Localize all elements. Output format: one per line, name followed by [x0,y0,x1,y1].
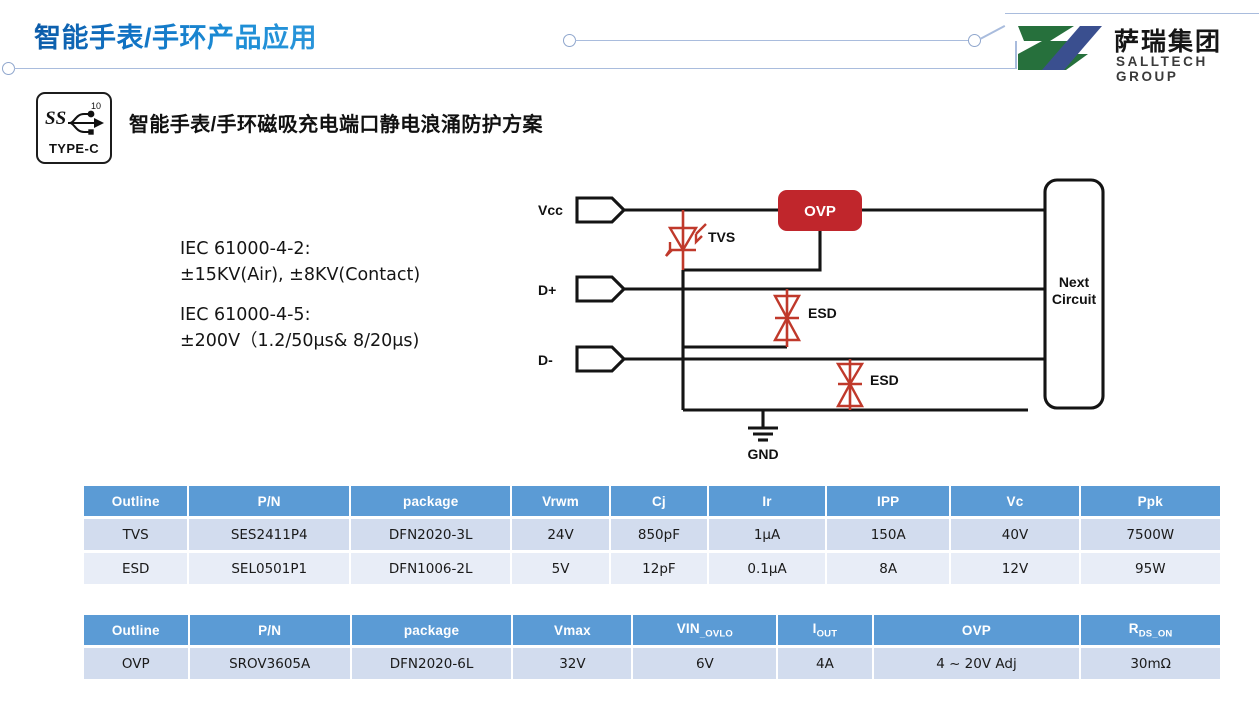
table2-header-6: OVP [874,615,1080,645]
port-label-vcc: Vcc [538,202,563,218]
table1-cell-1-1: SEL0501P1 [189,553,349,584]
ovp-spec-table: OutlineP/NpackageVmaxVIN_OVLOIOUTOVPRDS_… [82,612,1222,682]
table1-cell-1-4: 12pF [611,553,707,584]
deco-line-lower [14,68,1017,70]
table1-header-2: package [351,486,510,516]
table1-cell-0-1: SES2411P4 [189,519,349,550]
usb-trident-icon [66,110,106,136]
wire-ovp-feedback [683,231,820,270]
table2-header-7: RDS_ON [1081,615,1220,645]
table1-cell-1-3: 5V [512,553,608,584]
ovp-block: OVP [778,190,862,231]
table1-header-1: P/N [189,486,349,516]
table2-header-5: IOUT [778,615,871,645]
table1-cell-1-5: 0.1μA [709,553,825,584]
spec-line-1: IEC 61000-4-2: [180,236,420,262]
esd-label-1: ESD [808,305,837,321]
table-row: TVSSES2411P4DFN2020-3L24V850pF1μA150A40V… [84,519,1220,550]
page-header: 智能手表/手环产品应用 萨瑞集团 SALLTECH GROUP [0,0,1259,90]
table-row: OVPSROV3605ADFN2020-6L32V6V4A4 ~ 20V Adj… [84,648,1220,679]
slide-page: 智能手表/手环产品应用 萨瑞集团 SALLTECH GROUP SS 10 [0,0,1259,705]
esd-label-2: ESD [870,372,899,388]
deco-line-diagonal [980,25,1005,40]
next-circuit-label-line2: Circuit [1052,291,1097,307]
table1-header-8: Ppk [1081,486,1220,516]
table2-cell-0-5: 4A [778,648,871,679]
table2-cell-0-7: 30mΩ [1081,648,1220,679]
table1-header-3: Vrwm [512,486,608,516]
table1-header-0: Outline [84,486,187,516]
gnd-label: GND [747,446,778,462]
table-row: ESDSEL0501P1DFN1006-2L5V12pF0.1μA8A12V95… [84,553,1220,584]
table1-cell-0-4: 850pF [611,519,707,550]
connector-dminus [577,347,624,371]
table2-cell-0-4: 6V [633,648,776,679]
table1-cell-0-0: TVS [84,519,187,550]
table2-cell-0-2: DFN2020-6L [352,648,512,679]
type-c-label: TYPE-C [38,141,110,156]
superspeed-label: SS [45,108,66,130]
table1-cell-0-8: 7500W [1081,519,1220,550]
salltech-logo-mark [1014,24,1106,72]
table1-header-7: Vc [951,486,1078,516]
table2-cell-0-6: 4 ~ 20V Adj [874,648,1080,679]
table1-cell-1-6: 8A [827,553,950,584]
table1-header-5: Ir [709,486,825,516]
table1-cell-1-7: 12V [951,553,1078,584]
table1-cell-0-2: DFN2020-3L [351,519,510,550]
ground-symbol [748,410,778,440]
table-header-row: OutlineP/NpackageVrwmCjIrIPPVcPpk [84,486,1220,516]
ovp-block-label: OVP [804,203,836,220]
table2-header-4: VIN_OVLO [633,615,776,645]
table2-header-0: Outline [84,615,188,645]
table2-header-1: P/N [190,615,350,645]
tvs-esd-spec-table: OutlineP/NpackageVrwmCjIrIPPVcPpk TVSSES… [82,483,1222,587]
table1-cell-0-5: 1μA [709,519,825,550]
next-circuit-block: Next Circuit [1045,180,1103,408]
connector-vcc [577,198,624,222]
tvs-component [666,210,706,270]
spec-line-4: ±200V（1.2/50μs& 8/20μs) [180,328,420,354]
logo-text-en: SALLTECH GROUP [1116,54,1246,84]
logo-text-cn: 萨瑞集团 [1114,22,1222,58]
table-header-row: OutlineP/NpackageVmaxVIN_OVLOIOUTOVPRDS_… [84,615,1220,645]
company-logo: 萨瑞集团 SALLTECH GROUP [1014,22,1246,76]
table1-cell-0-6: 150A [827,519,950,550]
table1-cell-1-0: ESD [84,553,187,584]
connector-dplus [577,277,624,301]
table2-header-3: Vmax [513,615,631,645]
page-title: 智能手表/手环产品应用 [34,16,317,55]
table1-header-6: IPP [827,486,950,516]
table2-cell-0-0: OVP [84,648,188,679]
spec-text-block: IEC 61000-4-2: ±15KV(Air), ±8KV(Contact)… [180,236,420,354]
table2-cell-0-3: 32V [513,648,631,679]
table1-cell-0-7: 40V [951,519,1078,550]
esd-component-2 [838,359,862,410]
type-c-badge: SS 10 TYPE-C [36,92,112,164]
circuit-diagram: .wire { stroke:#141414; stroke-width:3.1… [520,170,1140,470]
table1-header-4: Cj [611,486,707,516]
deco-line-upper [575,40,971,42]
next-circuit-label-line1: Next [1059,274,1090,290]
table1-cell-1-2: DFN1006-2L [351,553,510,584]
section-subtitle: 智能手表/手环磁吸充电端口静电浪涌防护方案 [129,108,543,137]
table1-cell-1-8: 95W [1081,553,1220,584]
table2-header-2: package [352,615,512,645]
spec-line-3: IEC 61000-4-5: [180,302,420,328]
tvs-label: TVS [708,229,735,245]
deco-node-right [968,34,981,47]
table1-cell-0-3: 24V [512,519,608,550]
port-label-dminus: D- [538,352,553,368]
table2-cell-0-1: SROV3605A [190,648,350,679]
esd-component-1 [775,289,799,347]
deco-line-top-right [1005,13,1259,15]
spec-line-2: ±15KV(Air), ±8KV(Contact) [180,262,420,288]
port-label-dplus: D+ [538,282,556,298]
